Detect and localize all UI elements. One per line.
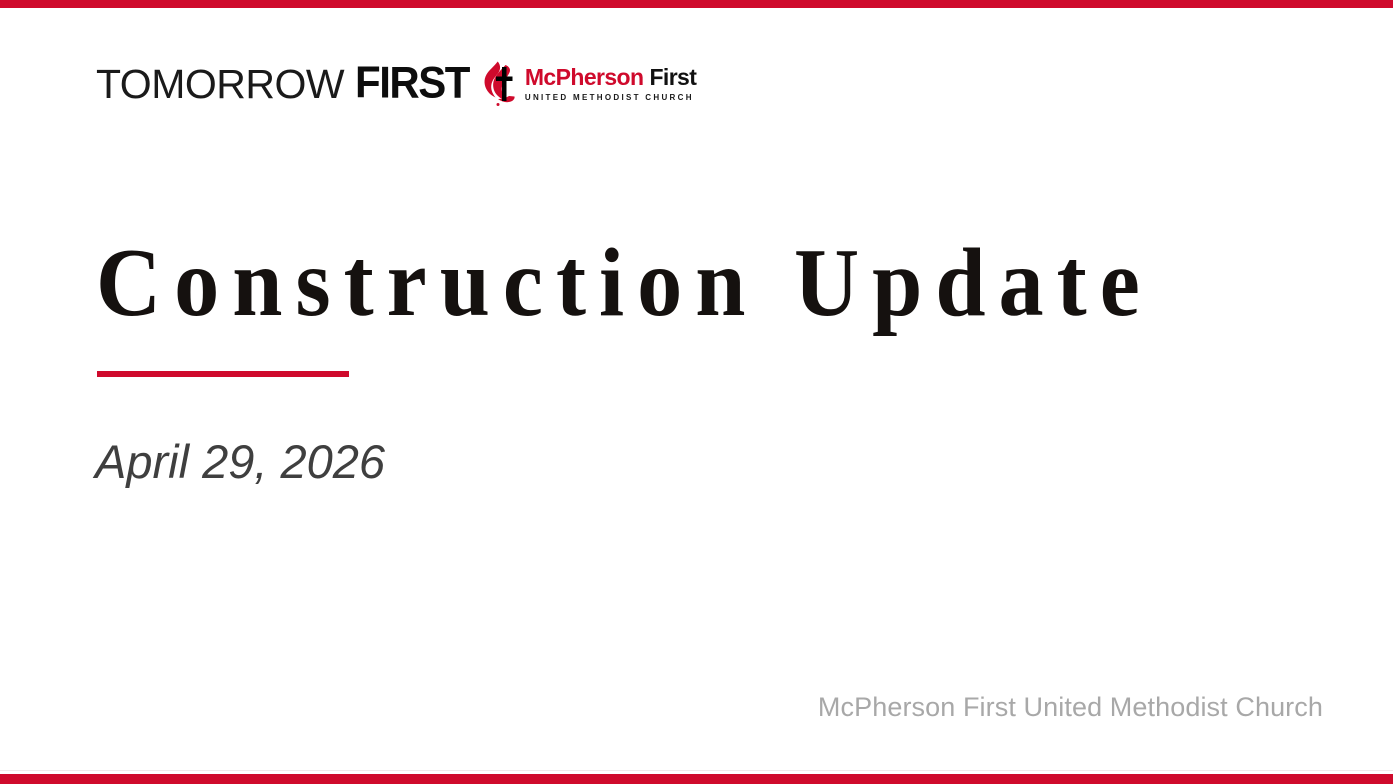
church-denomination: UNITED METHODIST CHURCH bbox=[525, 93, 696, 102]
church-logo-text: McPhersonFirst UNITED METHODIST CHURCH bbox=[525, 66, 696, 102]
slide-date: April 29, 2026 bbox=[95, 434, 385, 490]
slide-title: Construction Update bbox=[96, 234, 1153, 331]
cross-and-flame-icon bbox=[483, 60, 517, 108]
header-logo-lockup: TOMORROW FIRST McPhersonFirst UNITED MET… bbox=[96, 58, 696, 110]
top-accent-bar bbox=[0, 0, 1393, 8]
bottom-hairline bbox=[0, 770, 1393, 771]
wordmark-first: FIRST bbox=[355, 60, 469, 105]
church-name-line: McPhersonFirst bbox=[525, 66, 696, 89]
church-name-mcpherson: McPherson bbox=[525, 64, 644, 90]
wordmark-tomorrow: TOMORROW bbox=[96, 64, 344, 105]
title-slide: TOMORROW FIRST McPhersonFirst UNITED MET… bbox=[0, 0, 1393, 784]
church-name-first: First bbox=[649, 64, 696, 90]
bottom-accent-bar bbox=[0, 774, 1393, 784]
church-logo: McPhersonFirst UNITED METHODIST CHURCH bbox=[483, 60, 696, 108]
campaign-wordmark: TOMORROW FIRST bbox=[96, 63, 469, 105]
footer-organization: McPherson First United Methodist Church bbox=[818, 692, 1323, 723]
title-accent-rule bbox=[97, 371, 349, 377]
